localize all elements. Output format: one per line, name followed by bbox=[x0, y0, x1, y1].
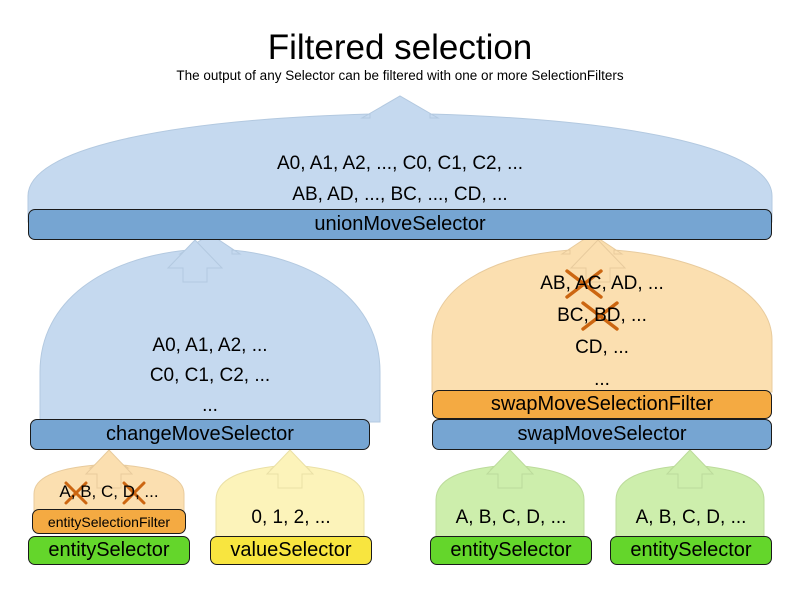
change-move-selector-bar[interactable]: changeMoveSelector bbox=[30, 419, 370, 450]
content-line: 0, 1, 2, ... bbox=[210, 505, 372, 531]
page-title: Filtered selection bbox=[0, 28, 800, 68]
arrow-entity-filtered-to-change bbox=[86, 450, 132, 488]
swap-move-selector-dome bbox=[432, 234, 772, 392]
entity-selector-filtered-dome bbox=[34, 455, 184, 512]
entity-selector-swap-left-label: entitySelector bbox=[450, 539, 571, 562]
content-line: A0, A1, A2, ... bbox=[40, 331, 380, 361]
union-move-selector-dome bbox=[28, 96, 772, 222]
crossout-bd-icon bbox=[583, 303, 617, 329]
entity-selector-filtered-contents: A, B, C, D, ... bbox=[28, 479, 190, 505]
content-line: A0, A1, A2, ..., C0, C1, C2, ... bbox=[28, 148, 772, 179]
union-move-selector-label: unionMoveSelector bbox=[314, 213, 485, 236]
content-line: C0, C1, C2, ... bbox=[40, 361, 380, 391]
content-line: ... bbox=[40, 391, 380, 421]
value-selector-contents: 0, 1, 2, ... bbox=[210, 505, 372, 531]
page-subtitle: The output of any Selector can be filter… bbox=[0, 68, 800, 84]
value-selector-dome bbox=[216, 455, 364, 540]
arrow-entity-right-to-swap bbox=[667, 450, 713, 488]
crossout-b-icon bbox=[66, 483, 86, 503]
arrow-swap-to-union bbox=[571, 240, 625, 282]
swap-move-selection-filter-bar[interactable]: swapMoveSelectionFilter bbox=[432, 390, 772, 419]
content-line: A, B, C, D, ... bbox=[610, 505, 772, 531]
value-selector-label: valueSelector bbox=[230, 539, 351, 562]
entity-selector-swap-left-bar[interactable]: entitySelector bbox=[430, 536, 592, 565]
change-move-selector-contents: A0, A1, A2, ... C0, C1, C2, ... ... bbox=[40, 331, 380, 421]
entity-selector-swap-left-dome bbox=[436, 455, 584, 540]
arrow-value-to-change bbox=[267, 450, 313, 488]
swap-move-selection-filter-label: swapMoveSelectionFilter bbox=[491, 393, 713, 416]
swap-move-selector-label: swapMoveSelector bbox=[518, 423, 687, 446]
value-selector-bar[interactable]: valueSelector bbox=[210, 536, 372, 565]
entity-selector-swap-right-bar[interactable]: entitySelector bbox=[610, 536, 772, 565]
change-move-selector-dome bbox=[40, 234, 380, 422]
content-line: A, B, C, D, ... bbox=[28, 479, 190, 505]
content-line: A, B, C, D, ... bbox=[430, 505, 592, 531]
union-move-selector-bar[interactable]: unionMoveSelector bbox=[28, 209, 772, 240]
swap-move-selector-bar[interactable]: swapMoveSelector bbox=[432, 419, 772, 450]
content-line: AB, AD, ..., BC, ..., CD, ... bbox=[28, 179, 772, 210]
entity-selection-filter-bar[interactable]: entitySelectionFilter bbox=[32, 509, 186, 534]
entity-selector-swap-right-dome bbox=[616, 455, 764, 540]
crossout-ac-icon bbox=[567, 271, 601, 297]
arrow-entity-left-to-swap bbox=[487, 450, 533, 488]
union-move-selector-contents: A0, A1, A2, ..., C0, C1, C2, ... AB, AD,… bbox=[28, 148, 772, 210]
change-move-selector-label: changeMoveSelector bbox=[106, 423, 294, 446]
swap-move-selector-contents: AB, AC, AD, ... BC, BD, ... CD, ... ... bbox=[432, 268, 772, 396]
entity-selector-filtered-label: entitySelector bbox=[48, 539, 169, 562]
diagram-canvas: Filtered selection The output of any Sel… bbox=[0, 0, 800, 600]
content-line: AB, AC, AD, ... bbox=[432, 268, 772, 300]
content-line: CD, ... bbox=[432, 332, 772, 364]
entity-selection-filter-label: entitySelectionFilter bbox=[48, 514, 170, 530]
crossout-d-icon bbox=[124, 483, 144, 503]
arrow-change-to-union bbox=[168, 240, 222, 282]
content-line: BC, BD, ... bbox=[432, 300, 772, 332]
entity-selector-swap-right-contents: A, B, C, D, ... bbox=[610, 505, 772, 531]
entity-selector-filtered-bar[interactable]: entitySelector bbox=[28, 536, 190, 565]
entity-selector-swap-left-contents: A, B, C, D, ... bbox=[430, 505, 592, 531]
entity-selector-swap-right-label: entitySelector bbox=[630, 539, 751, 562]
